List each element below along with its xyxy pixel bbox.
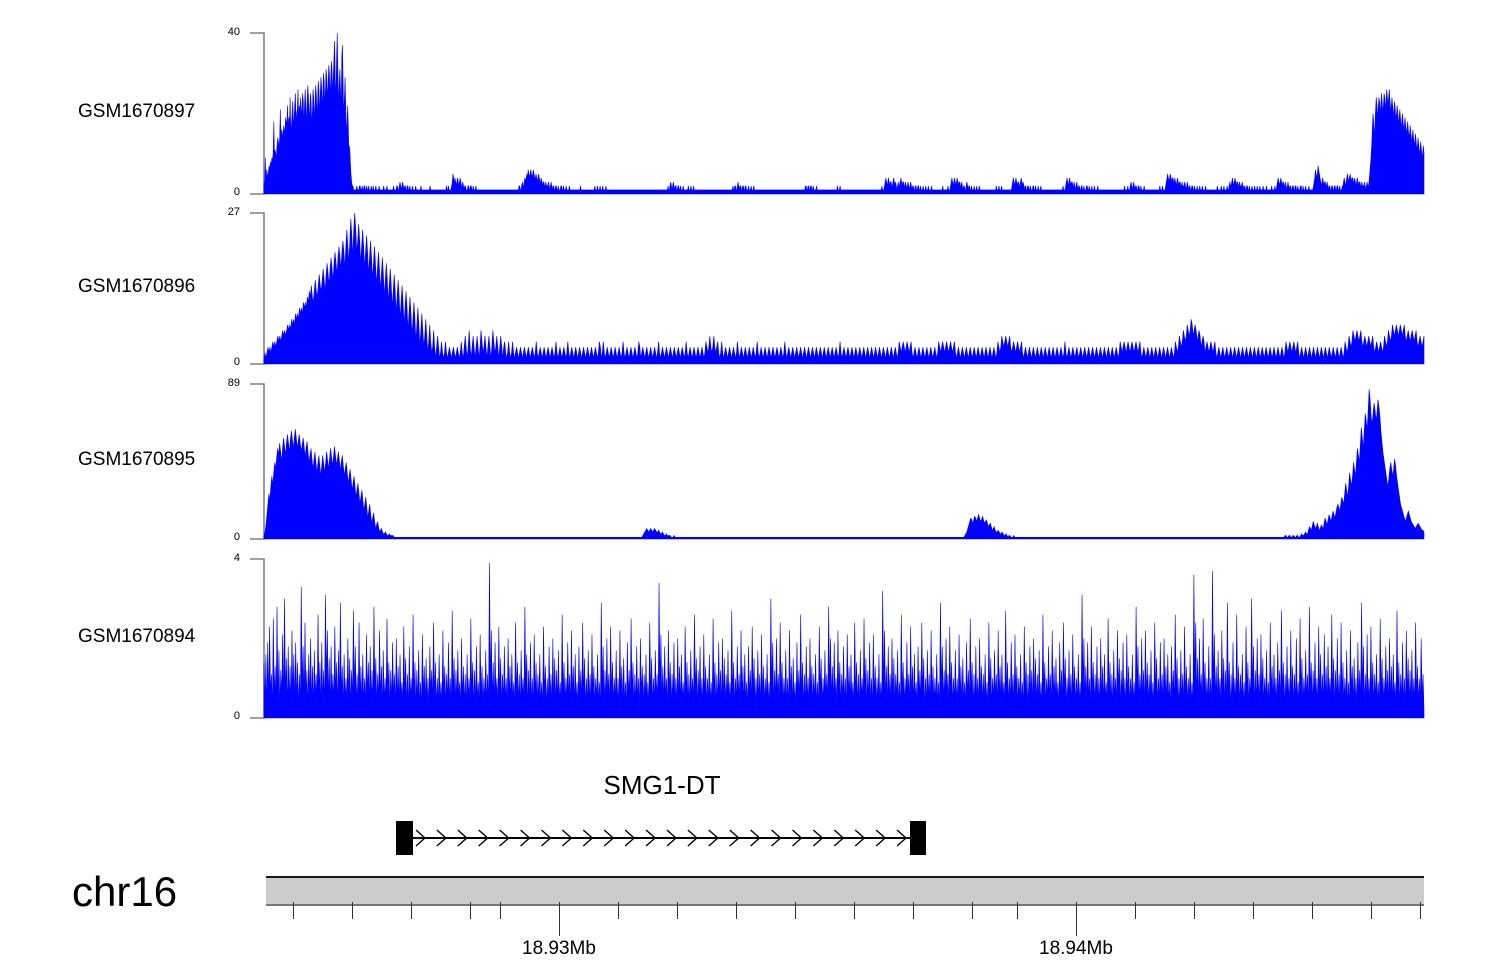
y-axis-bracket [250, 213, 264, 364]
coverage-signal-plot[interactable] [0, 383, 1500, 541]
axis-minor-tick [618, 902, 619, 919]
axis-minor-tick [795, 902, 796, 919]
axis-minor-tick [1371, 902, 1372, 919]
coverage-track: GSM167089440 [0, 558, 1500, 718]
axis-minor-tick [972, 902, 973, 919]
y-axis-bracket [250, 384, 264, 539]
axis-tick-label: 18.93Mb [459, 938, 659, 960]
axis-minor-tick [1194, 902, 1195, 919]
coverage-track: GSM1670897400 [0, 32, 1500, 194]
gene-model-svg[interactable] [0, 821, 1500, 859]
axis-minor-tick [352, 902, 353, 919]
coverage-signal-plot[interactable] [0, 558, 1500, 720]
coverage-track: GSM1670896270 [0, 212, 1500, 364]
axis-major-tick [559, 902, 560, 936]
axis-minor-tick [677, 902, 678, 919]
axis-minor-tick [470, 902, 471, 919]
axis-minor-tick [411, 902, 412, 919]
coverage-area [264, 563, 1424, 718]
axis-minor-tick [1420, 902, 1421, 919]
gene-model-row[interactable] [0, 821, 1500, 855]
coverage-area [264, 389, 1424, 539]
axis-minor-tick [500, 902, 501, 919]
axis-minor-tick [854, 902, 855, 919]
genome-browser-view: GSM1670897400GSM1670896270GSM1670895890G… [0, 0, 1500, 980]
y-axis-bracket [250, 33, 264, 194]
axis-major-tick [1076, 902, 1077, 936]
axis-minor-tick [1312, 902, 1313, 919]
exon-block[interactable] [910, 821, 926, 855]
axis-minor-tick [913, 902, 914, 919]
coverage-signal-plot[interactable] [0, 32, 1500, 196]
chromosome-label: chr16 [72, 868, 177, 916]
axis-tick-label: 18.94Mb [976, 938, 1176, 960]
axis-minor-tick [1135, 902, 1136, 919]
chromosome-ideogram-bar[interactable] [266, 876, 1424, 906]
gene-name-label: SMG1-DT [362, 770, 962, 801]
exon-block[interactable] [396, 821, 413, 855]
coverage-area [264, 33, 1424, 194]
coverage-track: GSM1670895890 [0, 383, 1500, 539]
axis-minor-tick [736, 902, 737, 919]
coverage-area [264, 213, 1424, 364]
coverage-signal-plot[interactable] [0, 212, 1500, 366]
y-axis-bracket [250, 559, 264, 718]
axis-minor-tick [293, 902, 294, 919]
axis-minor-tick [1253, 902, 1254, 919]
axis-minor-tick [1017, 902, 1018, 919]
